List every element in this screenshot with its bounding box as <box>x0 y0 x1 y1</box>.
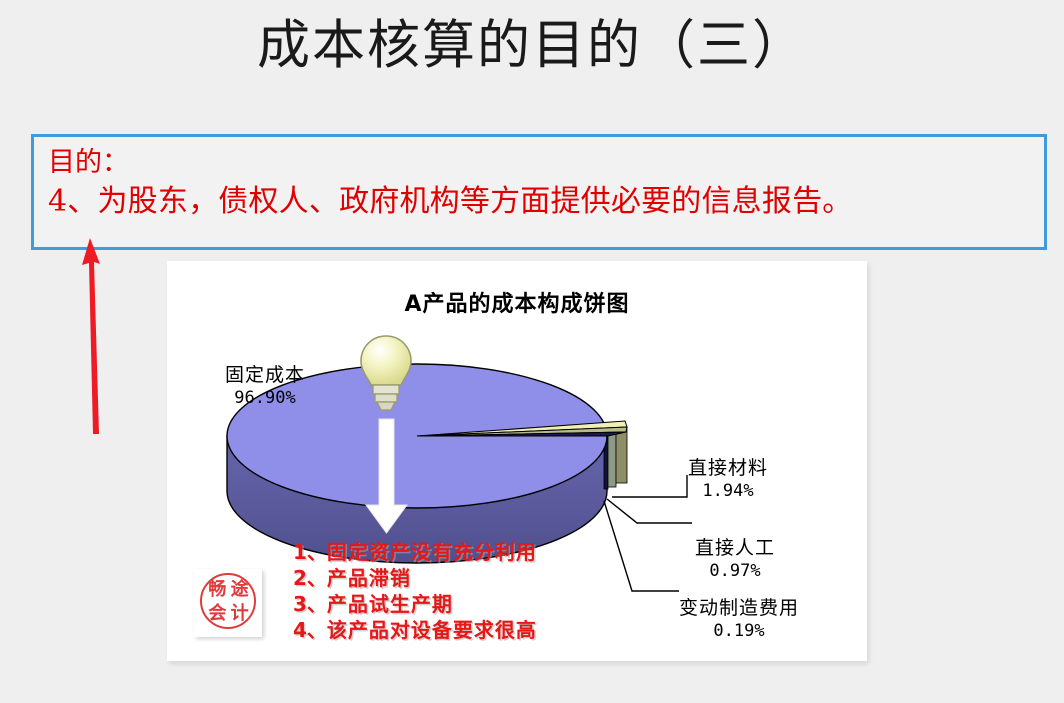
stamp-line-1: 畅 途 <box>202 578 254 602</box>
lightbulb-icon <box>361 336 411 410</box>
pie-top-variable-moh <box>417 432 626 436</box>
page-title: 成本核算的目的（三） <box>0 8 1064 84</box>
pie-label-direct-labor-value: 0.97% <box>695 560 775 582</box>
pie-label-direct-labor: 直接人工 0.97% <box>695 536 775 582</box>
pie-label-direct-material-value: 1.94% <box>688 480 768 502</box>
leader-line-direct-material <box>612 475 687 497</box>
list-item: 1、固定资产没有充分利用 <box>293 539 537 565</box>
pie-label-fixed-cost-name: 固定成本 <box>225 363 305 387</box>
list-item-text: 该产品对设备要求很高 <box>327 618 537 642</box>
red-up-arrow-icon <box>72 238 112 434</box>
leader-line-direct-labor <box>607 499 692 523</box>
list-item-number: 4、 <box>293 618 327 642</box>
pie-top-direct-labor <box>417 427 627 436</box>
list-item-number: 1、 <box>293 540 327 564</box>
pie-label-direct-labor-name: 直接人工 <box>695 536 775 560</box>
pie-label-fixed-cost: 固定成本 96.90% <box>225 363 305 409</box>
pie-label-fixed-cost-value: 96.90% <box>225 387 305 409</box>
red-seal-stamp-inner: 畅 途 会 计 <box>200 573 256 629</box>
white-down-arrow-icon <box>366 419 407 533</box>
pie-top-direct-material <box>417 421 627 436</box>
callout-heading: 目的： <box>48 145 1034 181</box>
leader-line-variable-moh <box>604 501 679 591</box>
pie-side-direct-material <box>616 427 627 483</box>
list-item-text: 固定资产没有充分利用 <box>327 540 537 564</box>
pie-label-direct-material: 直接材料 1.94% <box>688 456 768 502</box>
list-item: 3、产品试生产期 <box>293 591 537 617</box>
stamp-line-2: 会 计 <box>202 602 254 626</box>
pie-label-variable-moh-value: 0.19% <box>679 620 799 642</box>
reasons-list: 1、固定资产没有充分利用 2、产品滞销 3、产品试生产期 4、该产品对设备要求很… <box>293 539 537 643</box>
list-item: 4、该产品对设备要求很高 <box>293 617 537 643</box>
list-item-text: 产品试生产期 <box>327 592 453 616</box>
chart-title: A产品的成本构成饼图 <box>167 286 867 318</box>
list-item: 2、产品滞销 <box>293 565 537 591</box>
cost-structure-pie-chart: A产品的成本构成饼图 <box>167 261 867 661</box>
pie-label-direct-material-name: 直接材料 <box>688 456 768 480</box>
pie-label-variable-moh: 变动制造费用 0.19% <box>679 596 799 642</box>
pie-label-variable-moh-name: 变动制造费用 <box>679 596 799 620</box>
pie-side-direct-labor <box>608 430 616 487</box>
purpose-callout-box: 目的： 4、为股东，债权人、政府机构等方面提供必要的信息报告。 <box>31 134 1047 250</box>
list-item-number: 2、 <box>293 566 327 590</box>
callout-statement: 4、为股东，债权人、政府机构等方面提供必要的信息报告。 <box>48 181 1034 223</box>
pie-side-variable-moh <box>604 433 608 489</box>
red-seal-stamp: 畅 途 会 计 <box>194 569 262 637</box>
list-item-text: 产品滞销 <box>327 566 411 590</box>
list-item-number: 3、 <box>293 592 327 616</box>
